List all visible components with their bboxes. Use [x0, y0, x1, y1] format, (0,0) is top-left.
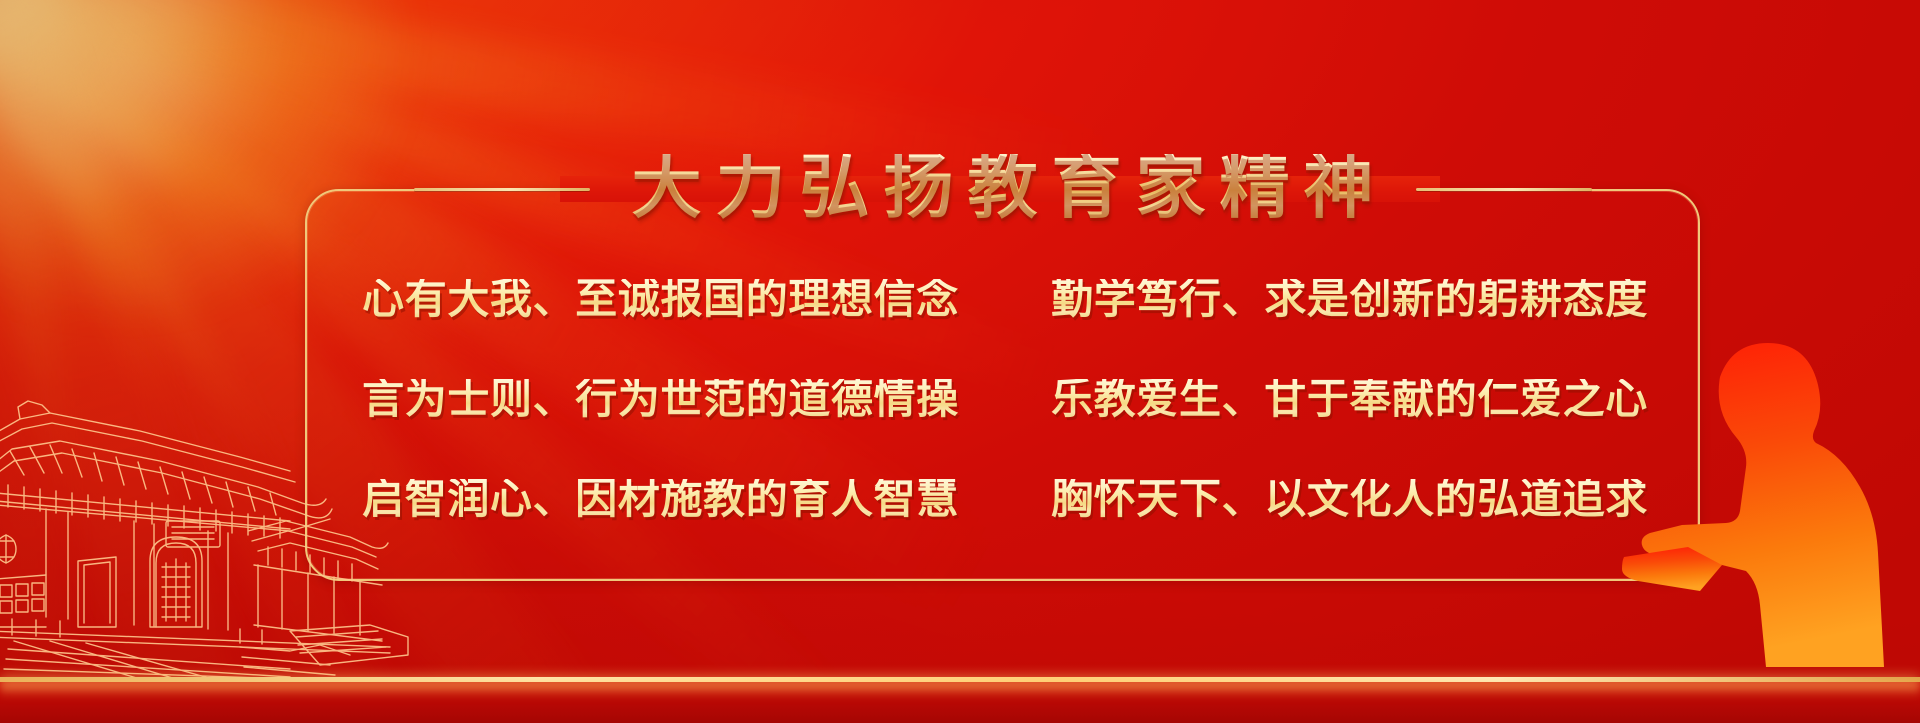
- slogan-row2-right: 乐教爱生、甘于奉献的仁爱之心: [1019, 379, 1680, 421]
- slogan-row3-right: 胸怀天下、以文化人的弘道追求: [1019, 479, 1680, 521]
- slogan-grid: 心有大我、至诚报国的理想信念 勤学笃行、求是创新的躬耕态度 言为士则、行为世范的…: [330, 250, 1680, 550]
- chinese-gate-icon: [0, 379, 420, 679]
- slogan-row1-left: 心有大我、至诚报国的理想信念: [330, 279, 991, 321]
- page-title: 大力弘扬教育家精神: [618, 154, 1388, 224]
- headline-rule-left: [414, 188, 590, 191]
- slogan-row3-left: 启智润心、因材施教的育人智慧: [330, 479, 991, 521]
- teacher-silhouette-icon: [1602, 319, 1902, 679]
- headline-rule-right: [1416, 188, 1592, 191]
- headline-row: 大力弘扬教育家精神: [305, 137, 1700, 241]
- banner-root: 大力弘扬教育家精神 心有大我、至诚报国的理想信念 勤学笃行、求是创新的躬耕态度 …: [0, 0, 1920, 723]
- slogan-row1-right: 勤学笃行、求是创新的躬耕态度: [1019, 279, 1680, 321]
- bottom-gold-strip: [0, 677, 1920, 723]
- slogan-row2-left: 言为士则、行为世范的道德情操: [330, 379, 991, 421]
